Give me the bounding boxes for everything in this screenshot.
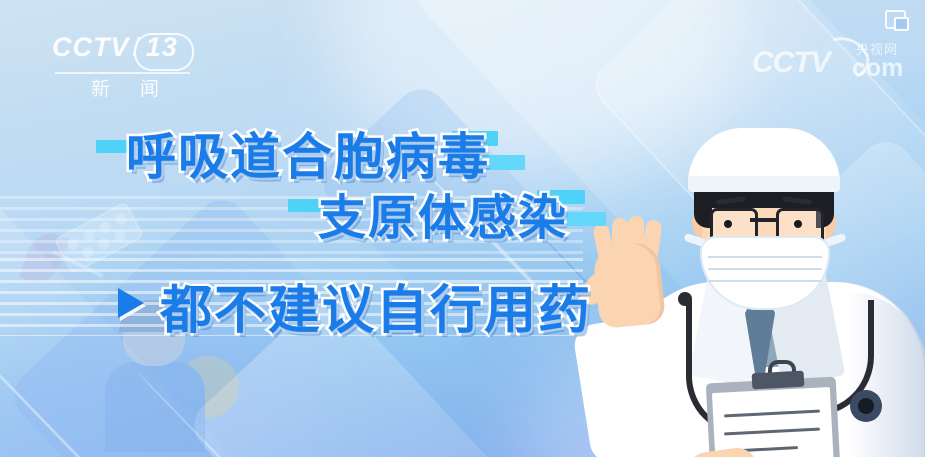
stethoscope-earpiece	[678, 292, 692, 306]
logo-cctv-text: CCTV	[52, 32, 130, 63]
logo-ring	[134, 33, 194, 71]
surgical-cap-band	[688, 176, 840, 192]
cctv-com-watermark: CCTV 央视网 com	[752, 38, 904, 80]
mask-fold	[708, 280, 822, 282]
broadcast-screenshot: 呼吸道合胞病毒 支原体感染 都不建议自行用药 CCTV / 13 新 闻 CCT…	[0, 0, 925, 457]
clipboard-clip	[752, 371, 805, 390]
watermark-domain: com	[852, 54, 903, 83]
logo-subtitle: 新 闻	[70, 74, 180, 101]
eye-left	[724, 220, 732, 228]
stethoscope-chestpiece-center	[858, 398, 874, 414]
eye-right	[794, 220, 802, 228]
cctv13-channel-logo: CCTV / 13 新 闻	[52, 32, 192, 92]
stripe-band-upper	[0, 196, 583, 258]
mask-fold	[708, 256, 822, 258]
logo-slash: /	[133, 32, 141, 63]
pip-inner-frame	[894, 17, 909, 31]
stripe-band-lower	[0, 258, 583, 336]
doctor-illustration	[612, 132, 925, 457]
picture-in-picture-icon[interactable]	[885, 10, 907, 30]
mask-fold	[708, 268, 822, 270]
watermark-brand: CCTV	[752, 46, 830, 80]
eyeglasses-bridge	[750, 218, 778, 222]
